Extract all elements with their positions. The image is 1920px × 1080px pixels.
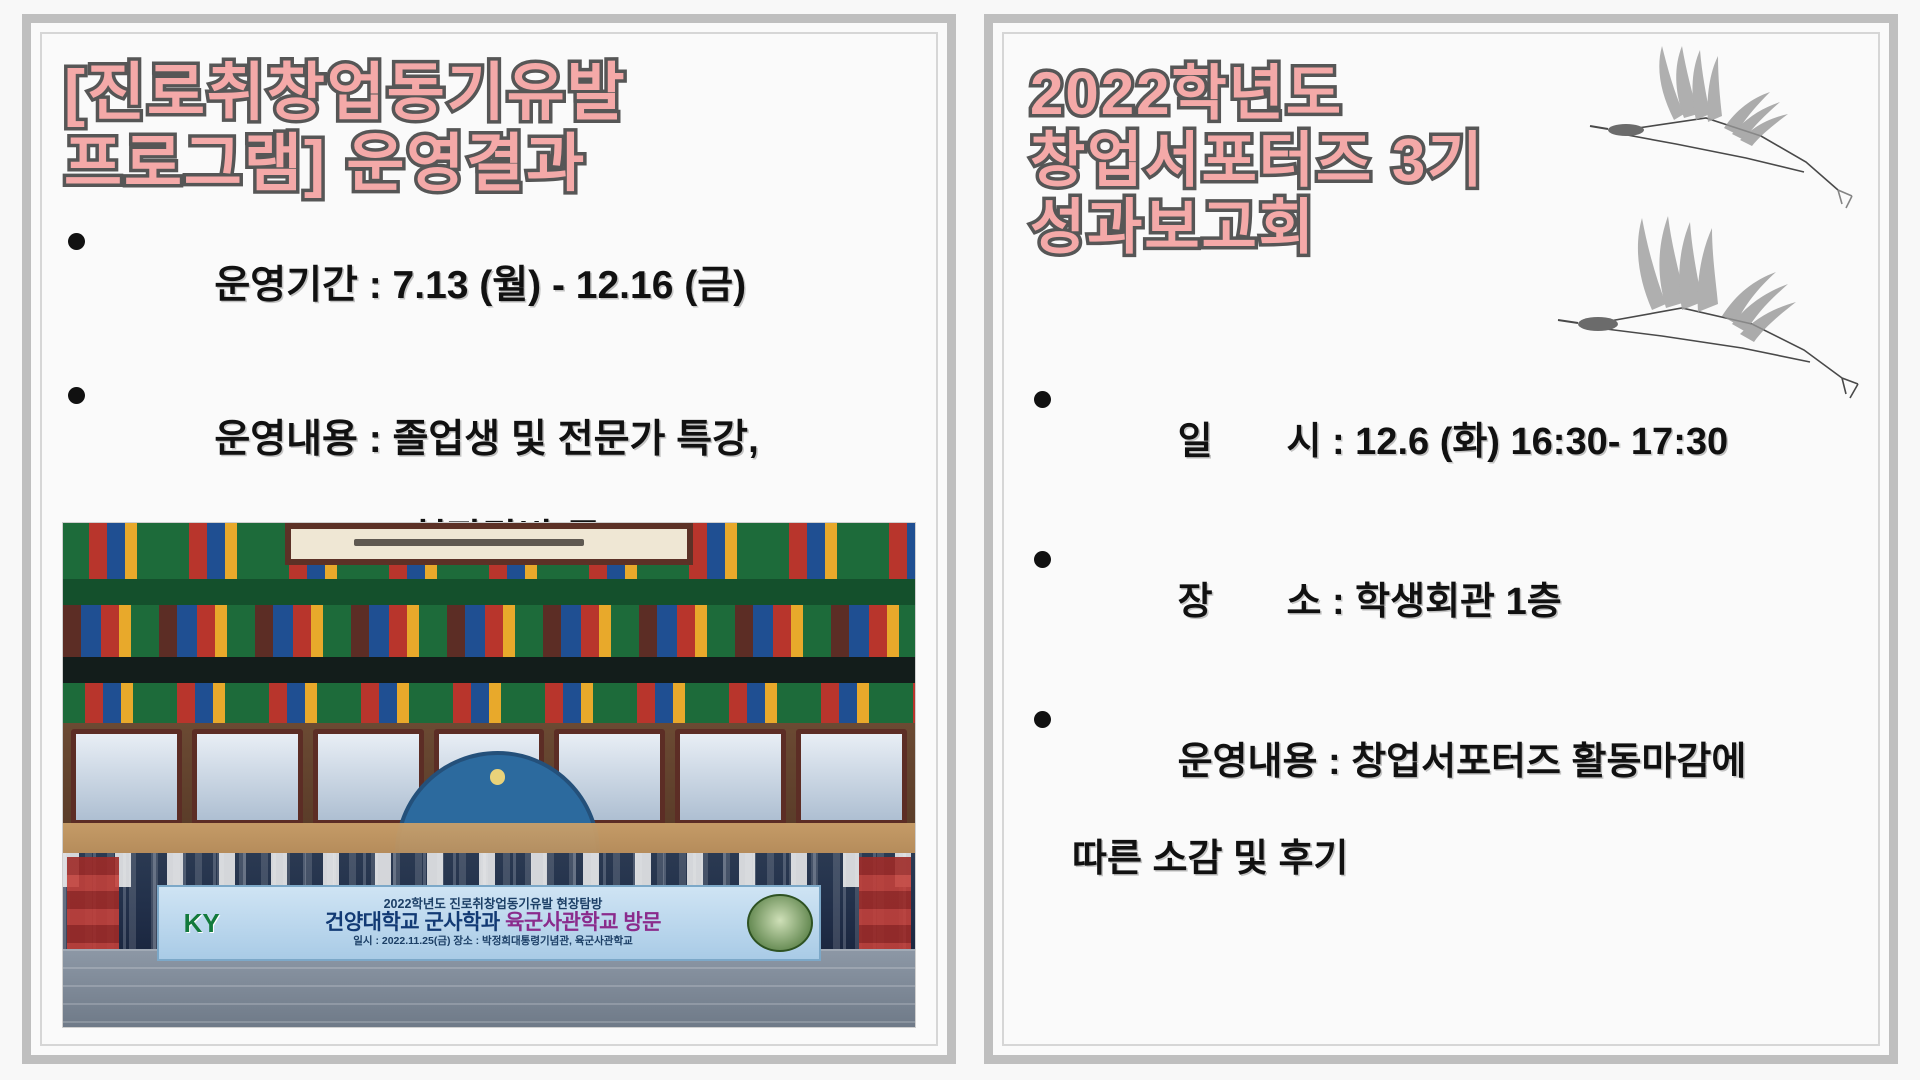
right-panel-inner-frame: 2022학년도 창업서포터즈 3기 성과보고회 일 시 : 12.6 (화) 1… [1002,32,1880,1046]
right-bullet-list: 일 시 : 12.6 (화) 16:30- 17:30 장 소 : 학생회관 1… [1026,370,1878,982]
right-bullet-item-location: 장 소 : 학생회관 1층 [1026,529,1878,675]
photo-honor-guard-right [859,857,911,949]
photo-eave-shadow [63,657,915,683]
right-headline-line-2: 창업서포터즈 3기 [1030,127,1878,194]
right-headline-line-3: 성과보고회 [1030,194,1878,261]
photo-hanging-plaque [285,523,694,565]
field-trip-photo: KY 2022학년도 진로취창업동기유발 현장탐방 건양대학교 군사학과 육군사… [62,522,916,1028]
banner-main-line: 건양대학교 군사학과 육군사관학교 방문 [239,912,748,935]
right-headline-block: 2022학년도 창업서포터즈 3기 성과보고회 [1004,34,1878,262]
right-bullet-value-location: : 학생회관 1층 [1321,581,1561,623]
right-bullet-value-content-continued: 따른 소감 및 후기 [1072,835,1878,884]
right-panel: 2022학년도 창업서포터즈 3기 성과보고회 일 시 : 12.6 (화) 1… [984,14,1898,1064]
right-bullet-item-datetime: 일 시 : 12.6 (화) 16:30- 17:30 [1026,370,1878,516]
photo-window [192,729,303,825]
photo-window [675,729,786,825]
right-headline-line-1: 2022학년도 [1030,60,1878,127]
photo-window [71,729,182,825]
left-bullet-text-period: 운영기간 : 7.13 (월) - 12.16 (금) [214,264,746,307]
slide-canvas: [진로취창업동기유발 프로그램] 운영결과 운영기간 : 7.13 (월) - … [0,0,1920,1080]
photo-green-band [63,579,915,605]
banner-academy-seal [747,894,813,952]
photo-cadet-hats [63,853,915,887]
right-bullet-value-datetime: : 12.6 (화) 16:30- 17:30 [1321,421,1728,463]
banner-top-line: 2022학년도 진로취창업동기유발 현장탐방 [239,898,748,912]
photo-event-banner: KY 2022학년도 진로취창업동기유발 현장탐방 건양대학교 군사학과 육군사… [157,885,822,961]
banner-main-line-part-1: 건양대학교 군사학과 [325,911,505,934]
right-bullet-key-content: 운영내용 [1178,738,1318,787]
left-bullet-text-content: 운영내용 : 졸업생 및 전문가 특강, [214,418,758,461]
banner-ky-logo: KY [165,897,239,949]
left-headline-line-2: 프로그램] 운영결과 [64,129,936,200]
right-bullet-item-content: 운영내용 : 창업서포터즈 활동마감에 따른 소감 및 후기 [1026,689,1878,981]
banner-main-line-part-2: 육군사관학교 방문 [505,911,661,934]
left-panel: [진로취창업동기유발 프로그램] 운영결과 운영기간 : 7.13 (월) - … [22,14,956,1064]
left-bullet-item-period: 운영기간 : 7.13 (월) - 12.16 (금) [60,211,936,361]
right-bullet-key-datetime: 일 시 [1178,418,1322,467]
left-headline-block: [진로취창업동기유발 프로그램] 운영결과 [42,34,936,199]
left-panel-inner-frame: [진로취창업동기유발 프로그램] 운영결과 운영기간 : 7.13 (월) - … [40,32,938,1046]
photo-roof-beam-mid [63,605,915,657]
right-bullet-key-location: 장 소 [1178,578,1322,627]
photo-honor-guard-left [67,857,119,949]
left-headline-line-1: [진로취창업동기유발 [64,58,936,129]
right-bullet-value-content: : 창업서포터즈 활동마감에 [1317,741,1746,783]
banner-sub-line: 일시 : 2022.11.25(금) 장소 : 박정희대통령기념관, 육군사관학… [239,936,748,947]
banner-text-block: 2022학년도 진로취창업동기유발 현장탐방 건양대학교 군사학과 육군사관학교… [239,898,748,948]
photo-window [796,729,907,825]
photo-roof-beam-lower [63,683,915,723]
